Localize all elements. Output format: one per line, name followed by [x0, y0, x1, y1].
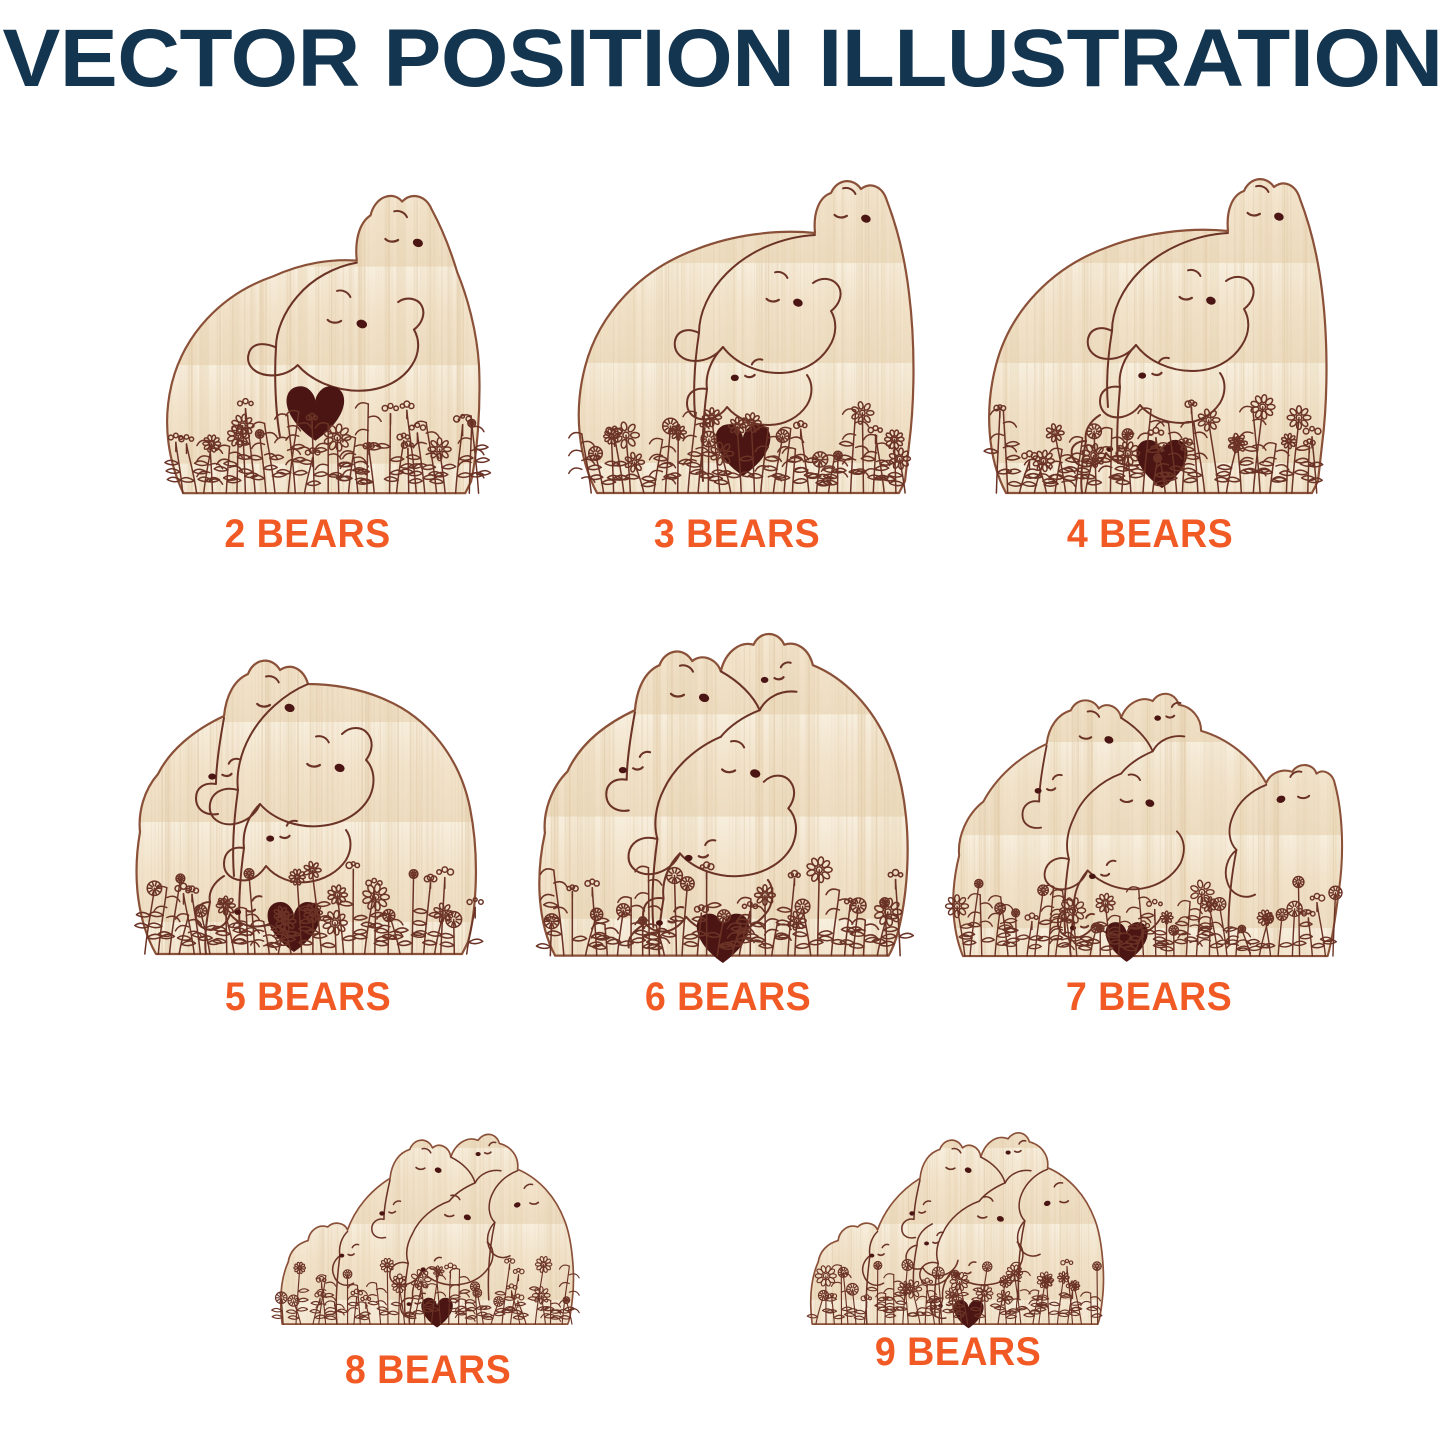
caption-bears-4: 4 BEARS: [962, 512, 1338, 557]
plaque-bears-4[interactable]: [950, 163, 1350, 508]
caption-bears-3: 3 BEARS: [549, 512, 925, 557]
bear-plaque-illustration: [228, 1072, 628, 1334]
bear-plaque-illustration: [537, 163, 937, 508]
bear-plaque-illustration: [758, 1072, 1158, 1334]
plaque-bears-6[interactable]: [518, 612, 938, 970]
caption-bears-6: 6 BEARS: [531, 975, 926, 1020]
bear-plaque-illustration: [105, 168, 510, 508]
caption-bears-7: 7 BEARS: [960, 975, 1338, 1020]
caption-bears-5: 5 BEARS: [120, 975, 496, 1020]
page-title: VECTOR POSITION ILLUSTRATION: [0, 16, 1445, 102]
bear-plaque-illustration: [948, 640, 1350, 970]
plaque-bears-7[interactable]: [948, 640, 1350, 970]
caption-bears-9: 9 BEARS: [770, 1330, 1146, 1375]
caption-bears-8: 8 BEARS: [240, 1348, 616, 1393]
bear-plaque-illustration: [518, 612, 938, 970]
plaque-bears-8[interactable]: [228, 1072, 628, 1334]
plaque-bears-2[interactable]: [105, 168, 510, 508]
bear-plaque-illustration: [108, 618, 508, 970]
bear-plaque-illustration: [950, 163, 1350, 508]
plaque-bears-5[interactable]: [108, 618, 508, 970]
caption-bears-2: 2 BEARS: [117, 512, 498, 557]
plaque-bears-9[interactable]: [758, 1072, 1158, 1334]
plaque-bears-3[interactable]: [537, 163, 937, 508]
